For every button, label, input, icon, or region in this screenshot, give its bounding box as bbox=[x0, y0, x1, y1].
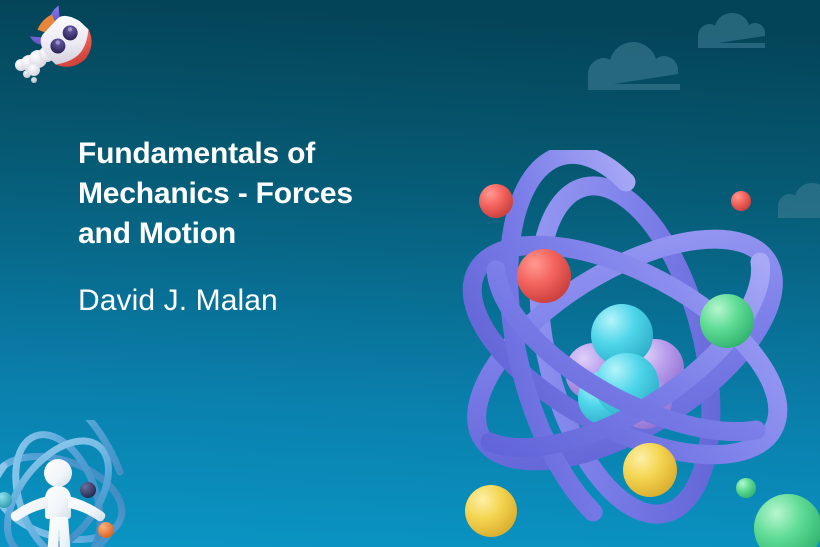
green-electron-right bbox=[700, 294, 754, 348]
cloud-small-top-right bbox=[698, 13, 765, 48]
yellow-electron-bottom bbox=[623, 443, 677, 497]
atom-orbital-rings-back bbox=[440, 168, 810, 532]
presentation-title-slide: Fundamentals of Mechanics - Forces and M… bbox=[0, 0, 820, 547]
green-sphere-bottom-right-edge bbox=[750, 490, 820, 547]
atom-orbital-rings-front bbox=[490, 154, 761, 512]
orange-particle bbox=[98, 522, 114, 538]
rocket-fin-right bbox=[29, 29, 50, 49]
rocket-smoke bbox=[15, 46, 55, 83]
human-atom-rings-front bbox=[0, 420, 120, 547]
atom-nucleus bbox=[565, 304, 684, 429]
rocket-nozzle bbox=[36, 13, 57, 34]
cloud-large-top bbox=[588, 42, 680, 90]
yellow-sphere-bottom-left bbox=[462, 482, 520, 540]
rocket-nose-cone bbox=[56, 29, 102, 76]
human-figure bbox=[11, 459, 106, 547]
rocket-body bbox=[34, 9, 97, 73]
page-title: Fundamentals of Mechanics - Forces and M… bbox=[78, 134, 418, 254]
rocket-window-lower bbox=[47, 35, 68, 56]
navy-particle bbox=[80, 482, 96, 498]
red-electron-upper-left bbox=[517, 249, 571, 303]
rocket-icon bbox=[8, 2, 104, 88]
green-sphere-tiny-bottom-right bbox=[733, 475, 759, 501]
red-sphere-small-upper-left bbox=[476, 181, 516, 221]
red-sphere-tiny-upper-right bbox=[728, 188, 754, 214]
title-text-block: Fundamentals of Mechanics - Forces and M… bbox=[78, 134, 418, 319]
rocket-window-upper bbox=[60, 22, 81, 43]
rocket-fin-left bbox=[45, 5, 69, 29]
cloud-right-edge bbox=[778, 183, 820, 218]
author-name: David J. Malan bbox=[78, 254, 418, 319]
human-atom-rings-back bbox=[0, 423, 133, 547]
human-atom-illustration bbox=[0, 420, 170, 547]
atom-illustration bbox=[430, 150, 820, 547]
teal-particle bbox=[0, 492, 12, 508]
